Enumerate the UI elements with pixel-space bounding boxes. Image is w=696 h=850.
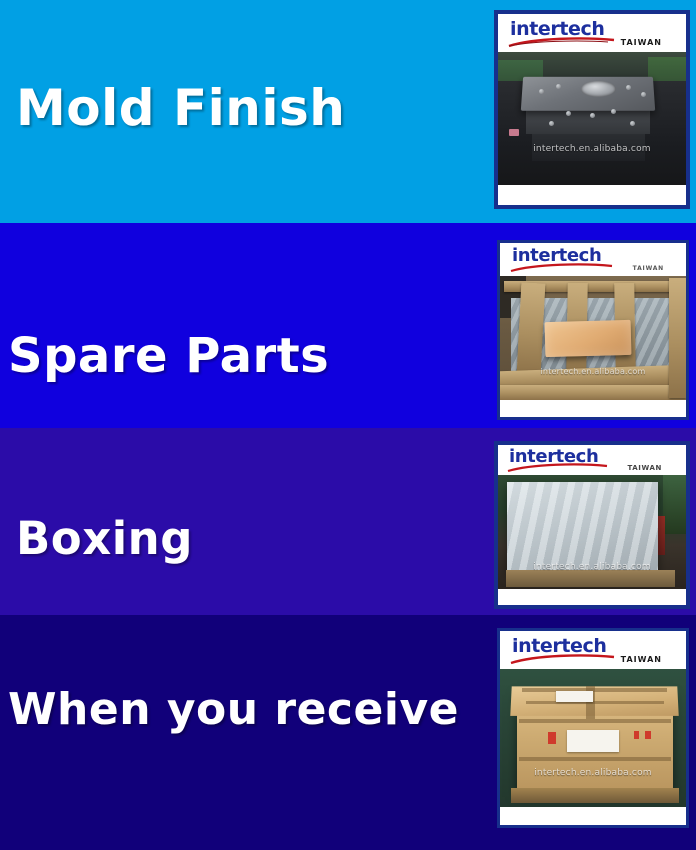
photo-image-mold-finish: intertech.en.alibaba.com (498, 52, 686, 185)
brand-subtitle: TAIWAN (627, 464, 662, 472)
photo-card-mold-finish: intertech TAIWAN (494, 10, 690, 209)
photo-footer-strip (500, 807, 686, 825)
brand-strip: intertech TAIWAN (500, 631, 686, 669)
brand-swoosh-icon (508, 37, 616, 48)
brand-strip: intertech TAIWAN (498, 14, 686, 52)
photo-footer-strip (498, 185, 686, 205)
photo-footer-strip (498, 589, 686, 605)
photo-image-when-you-receive: intertech.en.alibaba.com (500, 669, 686, 807)
photo-card-spare-parts: intertech TAIWAN (497, 240, 689, 420)
photo-footer-strip (500, 400, 686, 417)
photo-image-spare-parts: intertech.en.alibaba.com (500, 276, 686, 400)
headline-boxing: Boxing (16, 516, 193, 561)
slide-root: Mold Finish intertech TAIWAN (0, 0, 696, 850)
headline-when-you-receive: When you receive (8, 688, 459, 732)
brand-strip: intertech TAIWAN (500, 243, 686, 276)
brand-swoosh-icon (510, 263, 614, 273)
photo-card-when-you-receive: intertech TAIWAN (497, 628, 689, 828)
brand-swoosh-icon (507, 463, 609, 473)
photo-image-boxing: intertech.en.alibaba.com (498, 475, 686, 589)
brand-swoosh-icon (510, 654, 616, 665)
brand-subtitle: TAIWAN (633, 265, 664, 272)
brand-subtitle: TAIWAN (621, 655, 662, 664)
headline-spare-parts: Spare Parts (8, 332, 329, 380)
headline-mold-finish: Mold Finish (16, 83, 345, 133)
brand-subtitle: TAIWAN (621, 38, 662, 47)
photo-card-boxing: intertech TAIWAN intertech.en.alibaba.co… (494, 441, 690, 609)
brand-strip: intertech TAIWAN (498, 445, 686, 475)
